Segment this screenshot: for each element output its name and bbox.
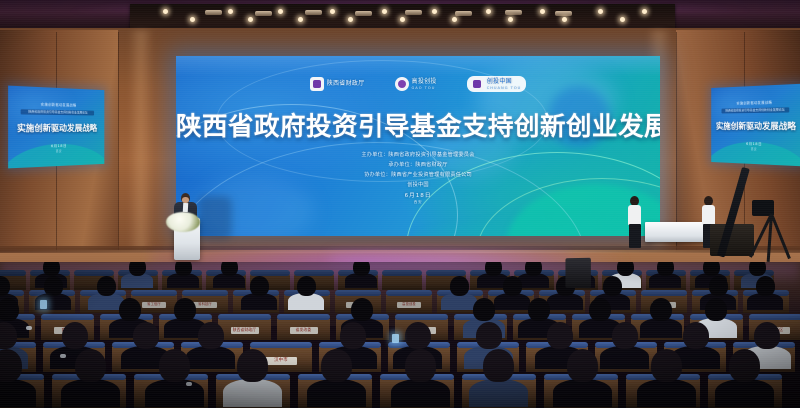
led-organizer-value: 陕西省产业投资管理有限责任公司 <box>391 172 472 178</box>
audience-face-mask-1 <box>60 354 66 358</box>
truss-spotlight-6 <box>298 17 303 22</box>
logo-partner-glyph-icon <box>473 80 481 88</box>
audience-person-head <box>729 349 760 382</box>
audience-person-head <box>62 322 88 349</box>
truss-fixture-7 <box>505 10 522 15</box>
side-screen-right-footer-date: 6月18日 <box>746 142 762 146</box>
led-organizer-value: 陕西省政府投资引导基金管理委员会 <box>388 152 474 158</box>
truss-spotlight-12 <box>452 17 457 22</box>
side-screen-left-title: 实施创新驱动发展战略 <box>8 122 104 135</box>
led-footer-date: 6月18日 <box>405 193 432 199</box>
audience-person-head <box>703 262 720 276</box>
logo-gaoxin-fund: 高投创投GAO TOU <box>395 77 437 91</box>
side-screen-right: 实施创新驱动发展战略 陕西省政府投资引导基金支持创新创业发展论坛 实施创新驱动发… <box>711 84 800 167</box>
audience-person-head <box>617 262 634 276</box>
led-organizer-label: 协办单位： <box>364 172 391 178</box>
crew-left-legs <box>629 224 641 248</box>
led-organizer-value: 创投中国 <box>407 182 429 188</box>
audience-person-head <box>476 322 502 349</box>
seat-top-cushion <box>382 270 422 276</box>
seat-placard: 省发改委 <box>290 327 318 334</box>
audience-person-head <box>612 322 638 349</box>
speaker-face <box>182 197 189 203</box>
audience-person-head <box>297 276 316 296</box>
audience-person-shoulders <box>0 379 36 407</box>
audience-person-head <box>353 262 370 276</box>
speaker-shirt <box>183 203 188 212</box>
truss-spotlight-8 <box>348 17 353 22</box>
truss-fixture-2 <box>255 11 272 16</box>
logo-gaoxin-fund-wordmark: 高投创投GAO TOU <box>412 78 437 90</box>
wall-seam-left <box>118 32 119 267</box>
led-organizer-line: 创投中国 <box>176 180 660 190</box>
seat-top-cushion <box>335 290 381 296</box>
audience-person-shoulders <box>553 379 612 407</box>
audience-person-head <box>651 349 682 382</box>
audience-person-head <box>567 349 598 382</box>
side-screen-right-bar: 陕西省政府投资引导基金支持创新创业发展论坛 <box>721 107 790 113</box>
audience-person-head <box>709 276 728 296</box>
truss-spotlight-19 <box>642 9 647 14</box>
audience-person-head <box>250 276 269 296</box>
seat-top-cushion <box>0 270 26 276</box>
auditorium-photo: 实施创新驱动发展战略 陕西省政府投资引导基金支持创新创业发展论坛 实施创新驱动发… <box>0 0 800 408</box>
audience-person-head <box>237 349 268 382</box>
audience-phone-screen-2 <box>392 334 399 343</box>
seat-top-cushion <box>294 270 334 276</box>
audience-person-shoulders <box>640 318 682 338</box>
truss-spotlight-10 <box>400 17 405 22</box>
audience-person-head <box>705 298 727 321</box>
speaker-shadow <box>198 196 232 240</box>
audience-person-head <box>405 349 436 382</box>
audience-person-shoulders <box>145 379 204 407</box>
audience-person-head <box>450 276 469 296</box>
pa-speaker-box <box>565 258 590 288</box>
main-led-screen: 陕西省财政厅高投创投GAO TOU创投中国CHUANG TOU 陕西省政府投资引… <box>176 56 660 236</box>
seat-top-cushion <box>250 270 290 276</box>
audience-person-shoulders <box>469 379 528 407</box>
audience-seat: 陕西省财政厅 <box>218 318 271 340</box>
truss-spotlight-17 <box>598 9 603 14</box>
audience-person-shoulders <box>223 379 282 407</box>
logo-partner: 创投中国CHUANG TOU <box>467 76 527 92</box>
seat-top-cushion <box>41 314 94 320</box>
audience-person-head <box>528 298 550 321</box>
seat-top-cushion <box>386 290 432 296</box>
audience-person-head <box>340 322 366 349</box>
seat-top-cushion <box>641 290 687 296</box>
audience-area: 陕西省财政厅省发改委西安高新区省工信厅省科技厅西安投资创投中国省产投高投创投西咸… <box>0 262 800 408</box>
truss-spotlight-2 <box>190 17 195 22</box>
logo-shaanxi-finance: 陕西省财政厅 <box>310 77 365 91</box>
logo-shaanxi-finance-glyph-icon <box>313 80 321 88</box>
led-organizer-line: 承办单位：陕西省财政厅 <box>176 160 660 170</box>
audience-seat: 高投创投 <box>386 294 432 313</box>
audience-person-head <box>43 262 60 276</box>
audience-person-head <box>683 322 709 349</box>
audience-person-head <box>650 298 672 321</box>
audience-face-mask-3 <box>26 326 32 330</box>
logo-shaanxi-finance-wordmark: 陕西省财政厅 <box>327 80 365 88</box>
audience-person-head <box>221 262 238 276</box>
truss-fixture-1 <box>205 10 222 15</box>
logo-gaoxin-fund-subtext: GAO TOU <box>412 86 437 90</box>
side-screen-left-bar: 陕西省政府投资引导基金支持创新创业发展论坛 <box>21 109 94 115</box>
audience-person-head <box>175 262 192 276</box>
audience-person-shoulders <box>715 379 774 407</box>
audience-person-shoulders <box>186 346 235 369</box>
audience-person-head <box>525 262 542 276</box>
audience-person-head <box>119 298 141 321</box>
truss-spotlight-3 <box>228 9 233 14</box>
seat-top-cushion <box>131 290 177 296</box>
led-organizer-label: 主办单位： <box>361 152 388 158</box>
audience-person-head <box>483 349 514 382</box>
truss-spotlight-14 <box>508 17 513 22</box>
audience-seat <box>382 274 422 290</box>
audience-person-head <box>133 322 159 349</box>
seat-top-cushion <box>749 314 800 320</box>
seat-placard: 省科技厅 <box>193 302 217 308</box>
audience-person-head <box>657 262 674 276</box>
side-screen-left-footer-date: 6月18日 <box>51 144 67 148</box>
audience-person-head <box>174 298 196 321</box>
led-footer-place: 西安 <box>176 200 660 205</box>
camera-tripod <box>752 214 792 262</box>
truss-spotlight-16 <box>562 17 567 22</box>
logo-gaoxin-fund-mark-icon <box>395 77 409 91</box>
led-organizer-label: 承办单位： <box>388 162 415 168</box>
audience-person-head <box>603 276 622 296</box>
truss-fixture-3 <box>305 10 322 15</box>
seat-placard: 陕西省财政厅 <box>231 327 259 334</box>
seat-top-cushion <box>74 270 114 276</box>
audience-person-head <box>159 349 190 382</box>
truss-fixture-6 <box>455 11 472 16</box>
led-footer: 6月18日 西安 <box>176 191 660 205</box>
truss-spotlight-11 <box>432 9 437 14</box>
crew-right-torso <box>702 205 715 225</box>
led-organizer-line: 主办单位：陕西省政府投资引导基金管理委员会 <box>176 150 660 160</box>
audience-person-head <box>754 322 780 349</box>
audience-seat: 省发改委 <box>277 318 330 340</box>
audience-person-shoulders <box>600 346 649 369</box>
truss-spotlight-9 <box>382 9 387 14</box>
audience-person-head <box>485 262 502 276</box>
truss-spotlight-7 <box>330 9 335 14</box>
truss-fixture-5 <box>405 10 422 15</box>
logo-shaanxi-finance-mark-icon <box>310 77 324 91</box>
audience-person-shoulders <box>391 379 450 407</box>
audience-person-head <box>44 276 63 296</box>
seat-top-cushion <box>182 290 228 296</box>
truss-spotlight-18 <box>620 17 625 22</box>
tripod-leg-1 <box>770 213 791 259</box>
seat-top-cushion <box>218 314 271 320</box>
led-screen-title: 陕西省政府投资引导基金支持创新创业发展论坛 <box>176 106 660 143</box>
led-organizer-value: 陕西省财政厅 <box>415 162 447 168</box>
wall-highlight-left <box>128 30 154 268</box>
truss-spotlight-13 <box>486 9 491 14</box>
truss-spotlight-5 <box>278 9 283 14</box>
audience-person-shoulders <box>637 379 696 407</box>
audience-person-head <box>589 298 611 321</box>
logo-partner-mark-icon <box>470 77 484 91</box>
side-screen-left: 实施创新驱动发展战略 陕西省政府投资引导基金支持创新创业发展论坛 实施创新驱动发… <box>8 86 104 169</box>
audience-person-head <box>749 262 766 276</box>
logo-partner-wordmark: 创投中国CHUANG TOU <box>487 78 522 90</box>
audience-person-head <box>351 298 373 321</box>
seat-top-cushion <box>277 314 330 320</box>
audience-person-head <box>97 276 116 296</box>
audience-person-head <box>321 349 352 382</box>
led-organizer-line: 协办单位：陕西省产业投资管理有限责任公司 <box>176 170 660 180</box>
audience-face-mask-2 <box>186 382 192 386</box>
flower-arrangement <box>166 212 200 232</box>
audience-person-shoulders <box>61 379 120 407</box>
audience-person-head <box>75 349 106 382</box>
audience-person-head <box>129 262 146 276</box>
audience-person-head <box>0 298 19 321</box>
audience-phone-screen-1 <box>40 300 47 309</box>
audience-person-head <box>547 322 573 349</box>
logo-partner-subtext: CHUANG TOU <box>487 86 522 90</box>
side-screen-right-title: 实施创新驱动发展战略 <box>711 120 800 133</box>
audience-person-head <box>405 322 431 349</box>
seat-placard: 汉中市 <box>265 357 297 365</box>
audience-person-head <box>756 276 775 296</box>
truss-fixture-4 <box>355 11 372 16</box>
logo-gaoxin-fund-glyph-icon <box>398 80 406 88</box>
crew-left-torso <box>628 205 641 225</box>
seat-top-cushion <box>250 342 312 348</box>
truss-spotlight-1 <box>163 9 168 14</box>
seat-top-cushion <box>395 314 448 320</box>
truss-fixture-8 <box>555 11 572 16</box>
truss-spotlight-4 <box>248 17 253 22</box>
led-logo-row: 陕西省财政厅高投创投GAO TOU创投中国CHUANG TOU <box>176 76 660 92</box>
seat-placard: 高投创投 <box>397 302 421 308</box>
truss-spotlight-15 <box>540 9 545 14</box>
seat-placard: 省工信厅 <box>142 302 166 308</box>
audience-person-head <box>473 298 495 321</box>
led-organizer-list: 主办单位：陕西省政府投资引导基金管理委员会承办单位：陕西省财政厅协办单位：陕西省… <box>176 150 660 191</box>
audience-person-head <box>503 276 522 296</box>
audience-person-shoulders <box>307 379 366 407</box>
audience-person-head <box>198 322 224 349</box>
